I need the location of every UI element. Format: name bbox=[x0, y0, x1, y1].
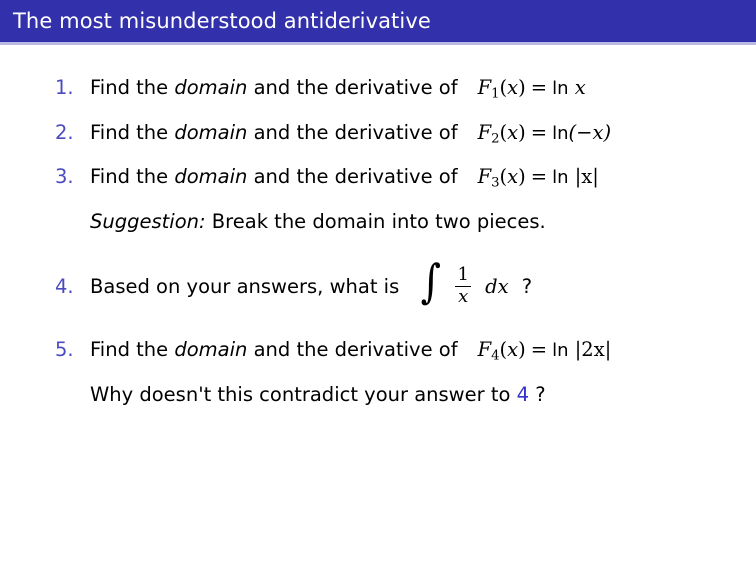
item-text-before: Find the bbox=[90, 76, 174, 99]
math-paren-close: ) bbox=[518, 165, 526, 188]
list-item: 1. Find the domain and the derivative of… bbox=[0, 69, 756, 114]
list-item-content: Find the domain and the derivative ofF3(… bbox=[90, 158, 756, 203]
math-paren-close: ) bbox=[518, 76, 526, 99]
fraction-one-over-x: 1 x bbox=[454, 266, 471, 307]
math-equals-sign: = bbox=[526, 165, 552, 188]
math-log-function: ln bbox=[552, 340, 568, 361]
math-log-argument: (−x) bbox=[569, 121, 612, 144]
item-emphasis: domain bbox=[174, 76, 247, 99]
math-expression-f2: F2(x)=ln(−x) bbox=[478, 121, 612, 144]
list-item: 5. Find the domain and the derivative of… bbox=[0, 331, 756, 414]
list-item-content: Based on your answers, what is ∫ 1 x dx … bbox=[90, 259, 756, 315]
math-function-name: F bbox=[478, 338, 492, 361]
item-text-before: Find the bbox=[90, 165, 174, 188]
item-text-before: Based on your answers, what is bbox=[90, 268, 399, 306]
list-item-content: Find the domain and the derivative ofF2(… bbox=[90, 114, 756, 159]
fraction-denominator: x bbox=[454, 287, 471, 307]
item-text-before: Find the bbox=[90, 121, 174, 144]
math-argument: x bbox=[507, 338, 518, 361]
math-log-function: ln bbox=[552, 123, 568, 144]
list-item-content: Find the domain and the derivative ofF1(… bbox=[90, 69, 756, 114]
list-item: 3. Find the domain and the derivative of… bbox=[0, 158, 756, 241]
math-argument: x bbox=[507, 165, 518, 188]
list-item-content: Find the domain and the derivative ofF4(… bbox=[90, 331, 756, 376]
math-equals-sign: = bbox=[526, 76, 552, 99]
list-item-followup-line: Why doesn't this contradict your answer … bbox=[90, 376, 756, 414]
suggestion-label: Suggestion: bbox=[90, 210, 206, 233]
list-item-suggestion-line: Suggestion: Break the domain into two pi… bbox=[90, 203, 756, 241]
item-text-after: and the derivative of bbox=[247, 165, 457, 188]
math-function-name: F bbox=[478, 76, 492, 99]
list-item: 4. Based on your answers, what is ∫ 1 x … bbox=[0, 259, 756, 315]
math-subscript: 3 bbox=[491, 176, 499, 191]
integral-expression: ∫ 1 x dx ? bbox=[419, 267, 532, 308]
item-text-after: and the derivative of bbox=[247, 121, 457, 144]
math-log-argument: |2x| bbox=[575, 338, 612, 361]
list-item-number: 2. bbox=[55, 114, 74, 152]
item-emphasis: domain bbox=[174, 121, 247, 144]
math-log-function: ln bbox=[552, 167, 568, 188]
slide-content: 1. Find the domain and the derivative of… bbox=[0, 45, 756, 567]
math-paren-open: ( bbox=[500, 338, 508, 361]
math-expression-f4: F4(x)=ln |2x| bbox=[478, 338, 612, 361]
math-subscript: 2 bbox=[491, 131, 499, 146]
math-subscript: 4 bbox=[491, 349, 499, 364]
followup-text-before: Why doesn't this contradict your answer … bbox=[90, 383, 517, 406]
math-argument: x bbox=[507, 121, 518, 144]
fraction-numerator: 1 bbox=[454, 266, 471, 286]
list-item-number: 1. bbox=[55, 69, 74, 107]
math-paren-open: ( bbox=[500, 165, 508, 188]
math-function-name: F bbox=[478, 121, 492, 144]
math-equals-sign: = bbox=[526, 121, 552, 144]
math-paren-close: ) bbox=[518, 338, 526, 361]
math-function-name: F bbox=[478, 165, 492, 188]
item-text-after: and the derivative of bbox=[247, 76, 457, 99]
math-log-argument: x bbox=[575, 76, 586, 99]
slide-title: The most misunderstood antiderivative bbox=[0, 11, 431, 32]
math-log-argument: |x| bbox=[575, 165, 599, 188]
item-emphasis: domain bbox=[174, 165, 247, 188]
slide-title-bar: The most misunderstood antiderivative bbox=[0, 0, 756, 42]
math-paren-open: ( bbox=[500, 76, 508, 99]
math-argument: x bbox=[507, 76, 518, 99]
item-emphasis: domain bbox=[174, 338, 247, 361]
math-log-function: ln bbox=[552, 78, 568, 99]
list-item-number: 3. bbox=[55, 158, 74, 196]
math-expression-f1: F1(x)=ln x bbox=[478, 76, 586, 99]
math-paren-open: ( bbox=[500, 121, 508, 144]
math-subscript: 1 bbox=[491, 87, 499, 102]
enumerated-question-list: 1. Find the domain and the derivative of… bbox=[0, 69, 756, 414]
math-expression-f3: F3(x)=ln |x| bbox=[478, 165, 599, 188]
list-item-number: 4. bbox=[55, 259, 74, 315]
math-paren-close: ) bbox=[518, 121, 526, 144]
item-text-before: Find the bbox=[90, 338, 174, 361]
math-equals-sign: = bbox=[526, 338, 552, 361]
differential-dx: dx bbox=[485, 275, 508, 298]
followup-text-after: ? bbox=[529, 383, 546, 406]
cross-reference-link[interactable]: 4 bbox=[517, 383, 529, 406]
question-mark: ? bbox=[522, 275, 532, 298]
list-item-number: 5. bbox=[55, 331, 74, 369]
item-text-after: and the derivative of bbox=[247, 338, 457, 361]
suggestion-text: Break the domain into two pieces. bbox=[206, 210, 546, 233]
list-item: 2. Find the domain and the derivative of… bbox=[0, 114, 756, 159]
